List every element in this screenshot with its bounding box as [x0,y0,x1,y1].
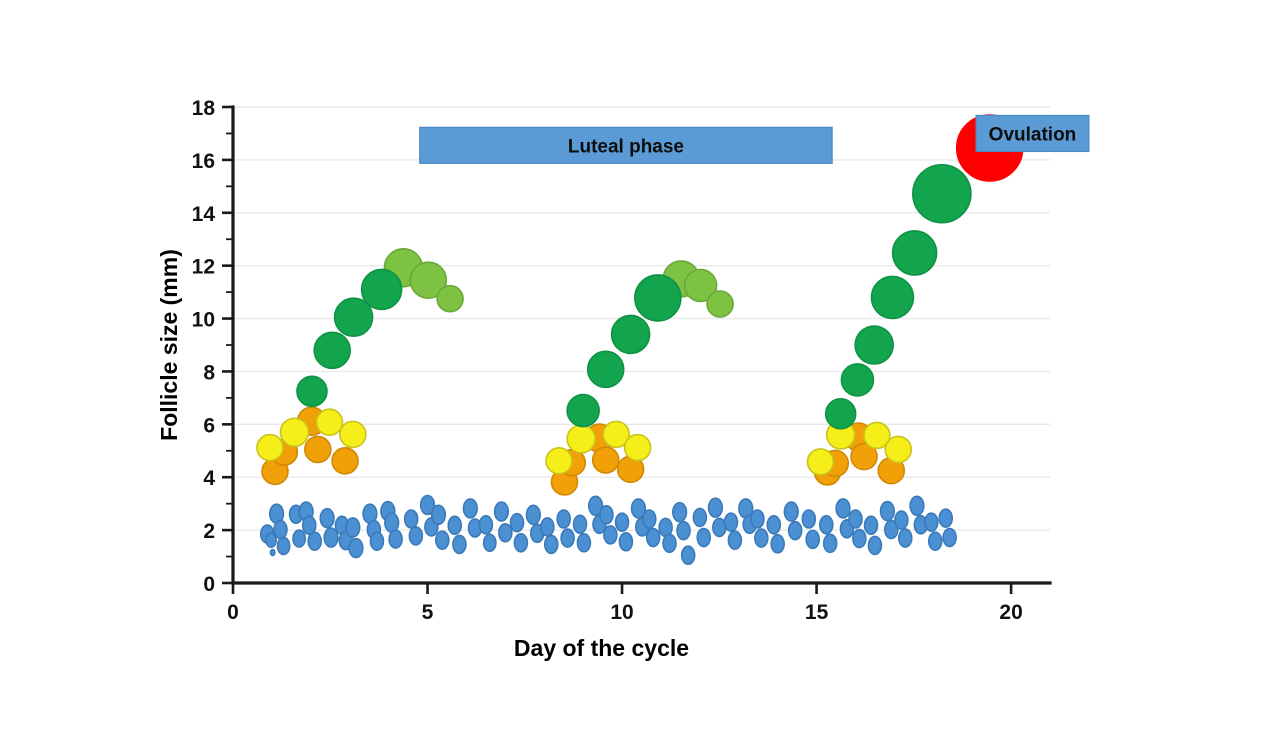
bubble-selected-follicles-yellow [257,435,283,461]
bubble-small-antral [600,506,613,524]
follicle-wave-chart: Luteal phase 02468101214161805101520Day … [0,0,1280,739]
bubble-small-antral [448,516,461,534]
bubble-small-antral [836,499,850,518]
bubble-small-antral [604,526,617,544]
bubble-dominant-follicle-growing [826,399,856,429]
y-tick-label-10: 10 [192,309,215,332]
data-bubbles-group [257,115,1023,564]
bubble-small-antral [865,516,878,534]
bubble-dominant-follicle-growing [362,269,402,309]
annotation-banners-group: Luteal phase [420,127,832,163]
bubble-small-antral [432,505,446,524]
y-tick-label-18: 18 [192,97,216,120]
bubble-small-antral [943,529,956,547]
bubble-small-antral [910,496,924,515]
bubble-small-antral [320,509,334,528]
bubble-small-antral [545,535,558,553]
bubble-small-antral [751,510,764,528]
bubble-dominant-follicle-growing [567,395,599,427]
bubble-dominant-follicle-growing [871,276,913,318]
bubble-small-antral [895,511,908,529]
bubble-small-antral [647,529,660,547]
bubble-small-antral [561,529,574,547]
bubble-small-antral [849,510,862,528]
y-tick-label-12: 12 [192,256,215,279]
bubble-small-antral [293,530,305,547]
bubble-dominant-follicle-growing [913,165,971,223]
bubble-dominant-follicle-growing [841,364,873,396]
bubble-small-antral [881,502,895,521]
bubble-selected-follicles-yellow [625,435,651,461]
bubble-small-antral [709,498,723,517]
bubble-small-antral [436,531,449,549]
bubble-dominant-follicle-growing [893,231,937,275]
bubble-selected-follicles-yellow [340,421,366,447]
bubble-dominant-follicle-growing [855,326,893,364]
bubble-small-antral [693,508,706,526]
y-tick-label-2: 2 [203,520,215,543]
bubble-small-antral [324,528,338,547]
bubble-small-antral [725,513,738,531]
luteal-phase-banner-text: Luteal phase [568,136,684,157]
bubble-small-antral [663,534,676,552]
bubble-small-antral [673,503,687,522]
bubble-small-antral [577,534,590,552]
bubble-small-antral [484,534,496,551]
bubble-small-antral [511,514,524,532]
ovulation-banner-text: Ovulation [989,124,1077,145]
bubble-small-antral [409,527,422,545]
x-tick-label-5: 5 [422,601,434,624]
x-tick-label-0: 0 [227,601,239,624]
y-tick-label-8: 8 [203,361,215,384]
bubble-small-antral [853,530,866,548]
bubble-selected-follicles-orange [305,436,331,462]
bubble-small-antral [346,518,360,537]
bubble-small-antral [802,510,815,528]
bubble-small-antral [755,529,768,547]
bubble-selected-follicles-orange [593,447,619,473]
bubble-dominant-follicle-growing [612,315,650,353]
bubble-dominant-follicle-growing [297,376,327,406]
bubble-small-antral [677,522,690,540]
bubble-small-antral [527,505,541,524]
y-tick-label-4: 4 [203,467,215,490]
bubble-small-antral [479,516,492,534]
bubble-small-antral [277,537,289,554]
bubble-selected-follicles-yellow [316,409,342,435]
bubble-small-antral [514,534,527,552]
bubble-dominant-follicle-growing [635,275,681,321]
bubble-small-antral [939,509,952,527]
bubble-small-antral [824,534,837,552]
bubble-small-antral [771,535,784,553]
x-tick-label-20: 20 [999,601,1022,624]
y-tick-label-0: 0 [203,573,215,596]
bubble-small-antral [697,529,710,547]
axis-labels-group: 02468101214161805101520Day of the cycleF… [156,97,1023,661]
bubble-small-antral [868,536,881,554]
y-tick-label-6: 6 [203,414,215,437]
bubble-small-antral [619,533,632,551]
bubble-selected-follicles-yellow [567,425,595,453]
x-tick-label-10: 10 [610,601,633,624]
x-axis-title: Day of the cycle [514,635,689,661]
bubble-regressing-dominant-follicle [707,291,733,317]
chart-svg: Luteal phase 02468101214161805101520Day … [0,0,1280,739]
bubble-small-antral [349,539,363,558]
bubble-small-antral [370,532,383,550]
y-axis-title: Follicle size (mm) [156,249,182,441]
bubble-dominant-follicle-growing [588,351,624,387]
bubble-dominant-follicle-growing [314,332,350,368]
bubble-small-antral [495,502,509,521]
bubble-small-antral [789,522,802,540]
bubble-selected-follicles-yellow [807,449,833,475]
bubble-small-antral [389,530,402,548]
bubble-small-antral [929,532,942,550]
bubble-small-antral [574,515,587,533]
bubble-selected-follicles-yellow [280,418,308,446]
bubble-small-antral [405,510,418,528]
bubble-small-antral [925,513,938,531]
bubble-small-antral [463,499,477,518]
y-tick-label-16: 16 [192,150,215,173]
bubble-regressing-dominant-follicle [437,286,463,312]
bubble-small-antral [453,535,466,553]
y-tick-label-14: 14 [192,203,216,226]
bubble-small-antral [728,531,741,549]
bubble-small-antral [767,516,780,534]
x-tick-label-15: 15 [805,601,829,624]
bubble-small-antral [682,546,695,564]
bubble-small-antral [806,530,819,548]
bubble-small-antral [820,516,833,534]
bubble-small-antral [616,513,629,531]
bubble-selected-follicles-orange [332,448,358,474]
bubble-small-antral [784,502,798,521]
bubble-small-antral [643,510,656,528]
bubble-selected-follicles-yellow [885,436,911,462]
bubble-small-antral [499,524,512,542]
bubble-small-antral [899,529,912,547]
bubble-small-antral [541,518,554,536]
bubble-small-antral [271,550,275,556]
bubble-small-antral [557,510,570,528]
bubble-selected-follicles-yellow [546,448,572,474]
bubble-small-antral [385,513,399,532]
bubble-small-antral [274,521,287,539]
bubble-small-antral [308,532,321,550]
